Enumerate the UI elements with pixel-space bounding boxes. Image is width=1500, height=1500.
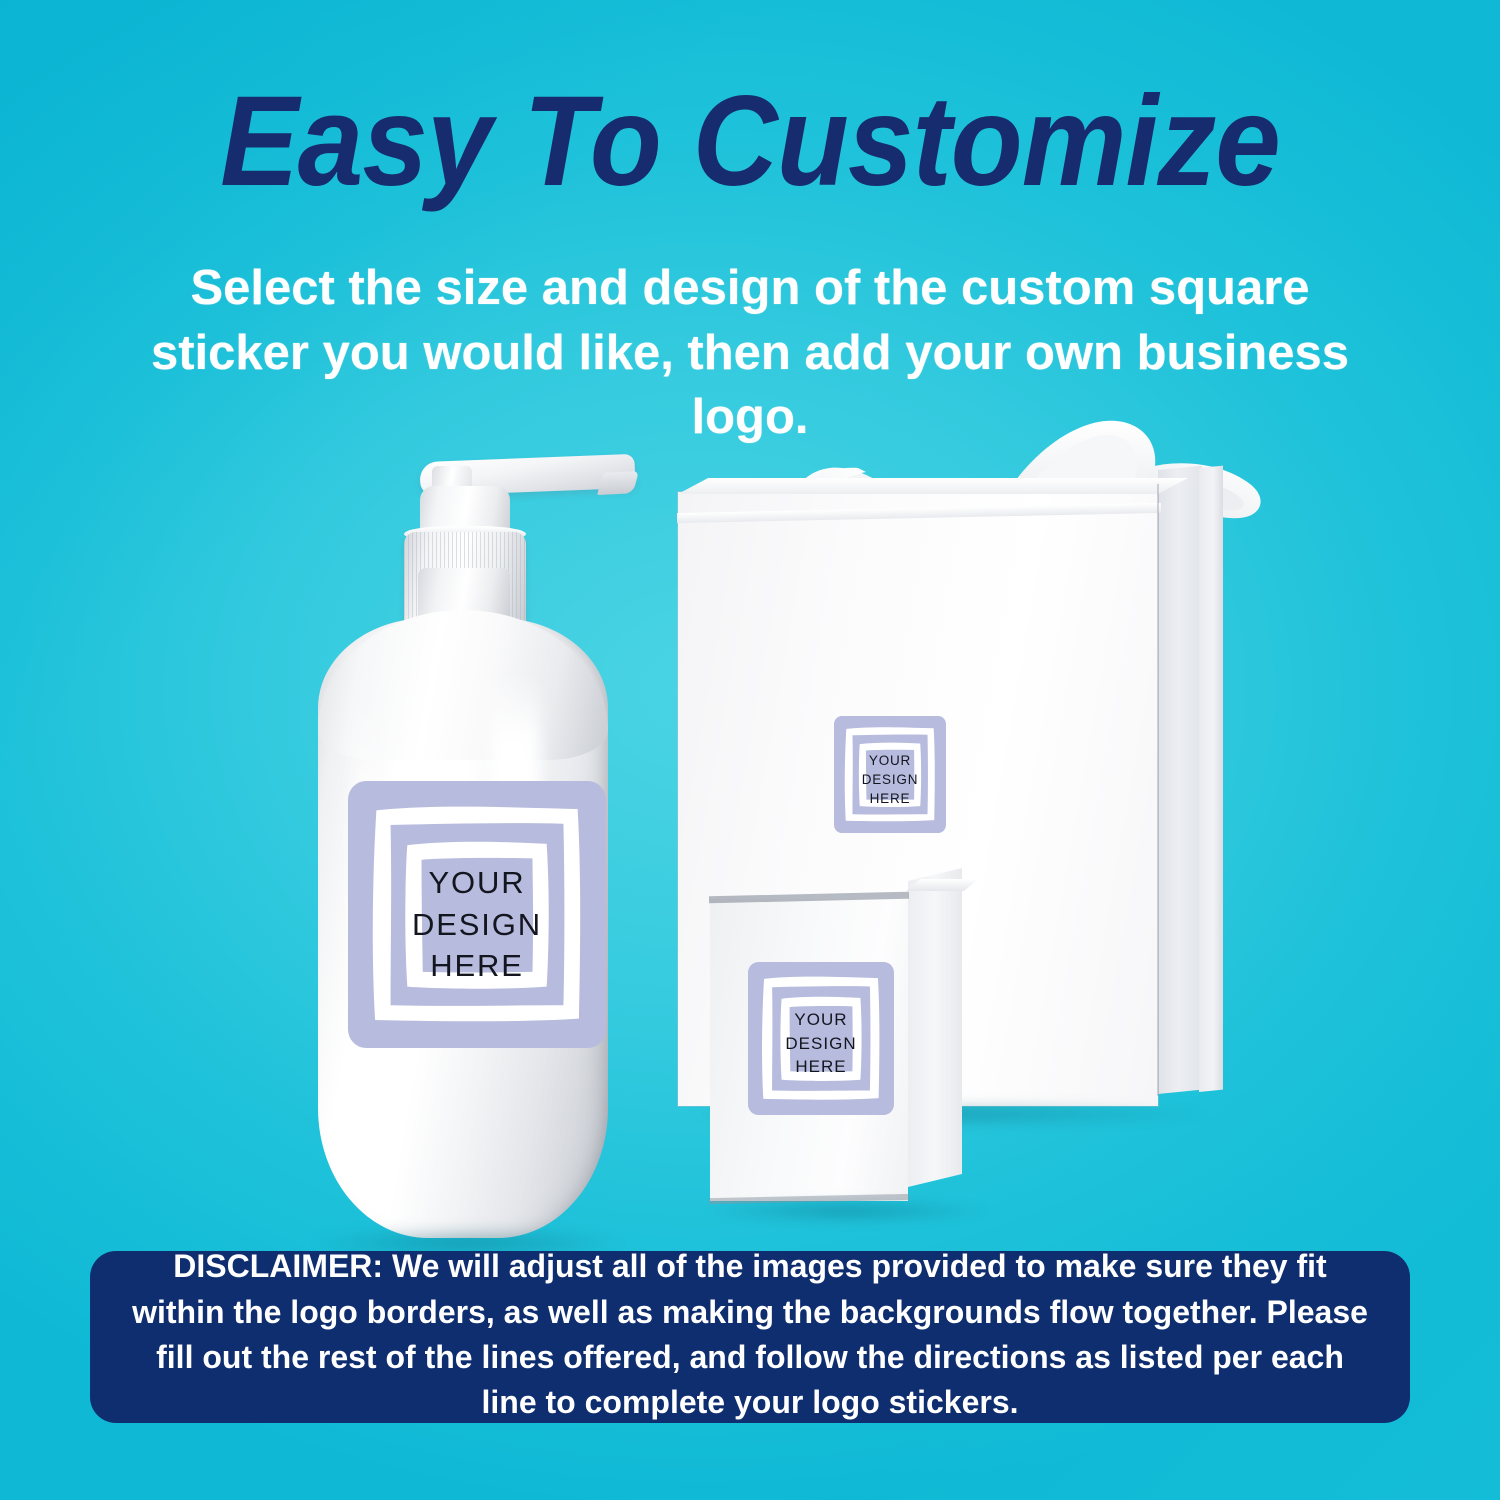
sticker-label-bottle[interactable]: YOUR DESIGN HERE [348, 781, 606, 1048]
disclaimer-paragraph: DISCLAIMER: We will adjust all of the im… [132, 1244, 1368, 1426]
small-box-shadow [702, 1198, 992, 1224]
sticker-line-3: HERE [348, 945, 606, 987]
sticker-line-3: HERE [748, 1055, 894, 1079]
disclaimer-label: DISCLAIMER: [173, 1248, 383, 1284]
bottle-pump-nozzle-tip [597, 471, 639, 495]
sticker-line-1: YOUR [348, 862, 606, 904]
sticker-line-2: DESIGN [834, 770, 946, 789]
sticker-text: YOUR DESIGN HERE [348, 862, 606, 987]
sticker-line-3: HERE [834, 789, 946, 808]
gift-box-back-panel [1199, 466, 1223, 1092]
gift-box-side-panel [1158, 466, 1202, 1094]
sticker-text: YOUR DESIGN HERE [834, 751, 946, 808]
gift-box-seam [1157, 484, 1159, 1096]
gift-box-lid-edge [677, 503, 1161, 523]
sticker-line-2: DESIGN [748, 1032, 894, 1056]
sticker-line-2: DESIGN [348, 904, 606, 946]
disclaimer-banner: DISCLAIMER: We will adjust all of the im… [90, 1251, 1410, 1423]
sticker-label-gift-box[interactable]: YOUR DESIGN HERE [834, 716, 946, 833]
small-box-side-panel [908, 868, 962, 1187]
sticker-line-1: YOUR [748, 1008, 894, 1032]
sticker-line-1: YOUR [834, 751, 946, 770]
sticker-text: YOUR DESIGN HERE [748, 1008, 894, 1079]
sticker-label-small-box[interactable]: YOUR DESIGN HERE [748, 962, 894, 1115]
